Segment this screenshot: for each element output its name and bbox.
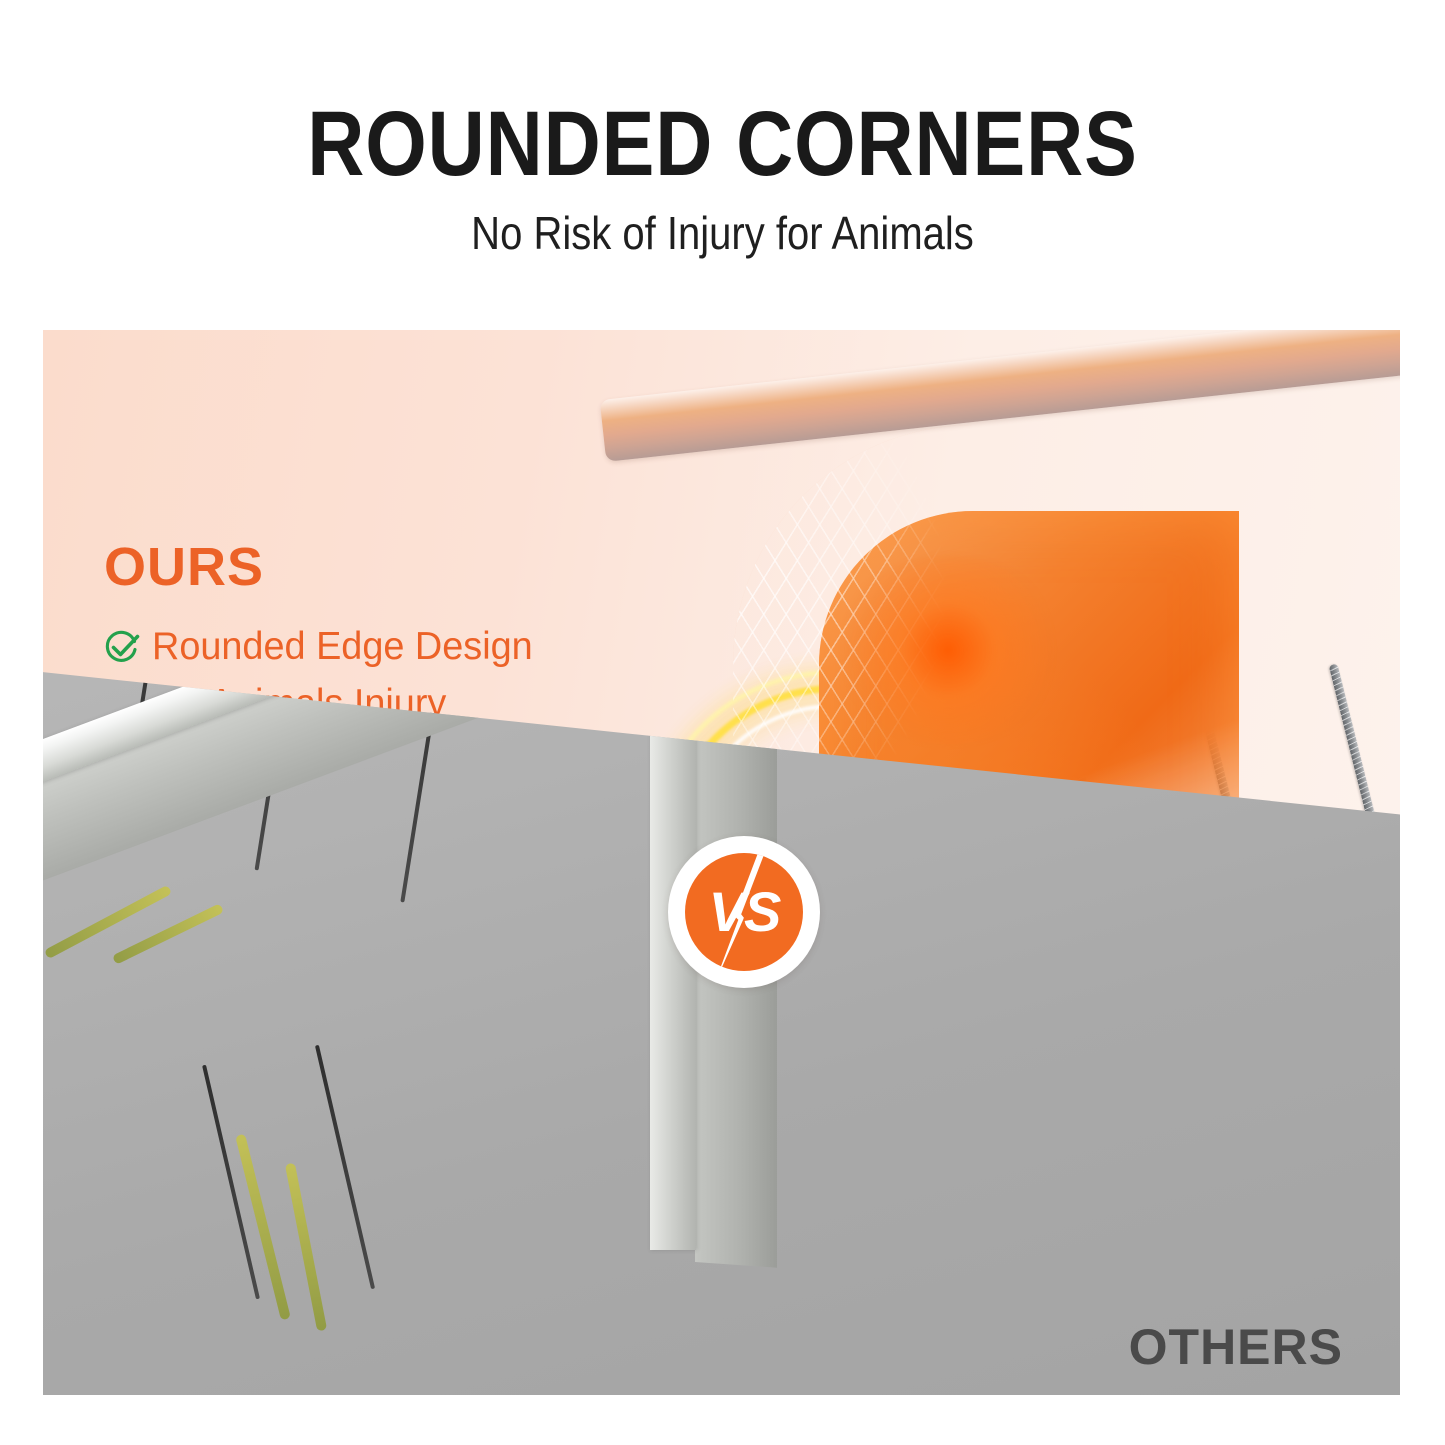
top-rail-bar	[600, 330, 1400, 462]
others-heading: OTHERS	[803, 1322, 1343, 1372]
yellow-strand	[44, 885, 172, 960]
vs-badge-circle: VS	[685, 853, 803, 971]
yellow-strand	[285, 1163, 327, 1332]
page-title: ROUNDED CORNERS	[101, 96, 1344, 192]
wire-strand	[315, 1045, 375, 1289]
ours-item-label: Rounded Edge Design	[152, 622, 533, 671]
yellow-strand	[235, 1134, 291, 1321]
glow-hotspot	[833, 555, 1063, 745]
vs-label: VS	[685, 853, 803, 971]
wire-strand	[202, 1065, 260, 1300]
ours-heading: OURS	[104, 540, 644, 594]
check-circle-icon	[104, 629, 140, 665]
list-item: Rounded Edge Design	[104, 622, 644, 671]
yellow-strand	[112, 903, 224, 965]
others-text-block: OTHERS Sharp Edges Animals Injury	[803, 1322, 1343, 1395]
header: ROUNDED CORNERS No Risk of Injury for An…	[0, 0, 1445, 330]
page-subtitle: No Risk of Injury for Animals	[94, 205, 1351, 261]
comparison-stage: OURS Rounded Edge Design	[43, 330, 1400, 1395]
vs-badge: VS	[668, 836, 820, 988]
